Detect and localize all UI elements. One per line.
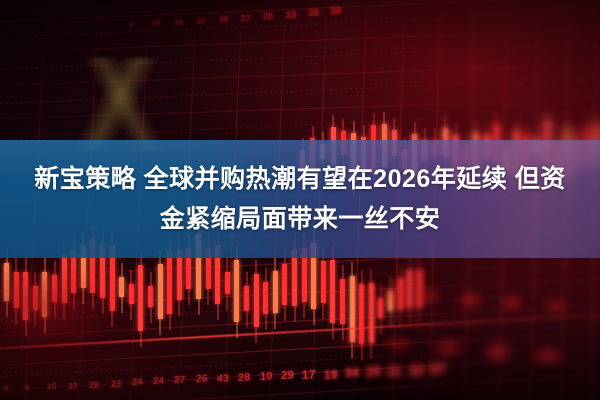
axis-label: 28 — [238, 371, 250, 383]
axis-label: 8 — [25, 383, 30, 392]
axis-label: 39 — [219, 15, 228, 24]
axis-label: 38 — [308, 7, 319, 18]
axis-label: 23 — [111, 378, 121, 388]
axis-label: 28 — [89, 379, 99, 389]
axis-label: 17 — [302, 368, 315, 382]
axis-label: 27 — [197, 16, 206, 25]
axis-label: 38 — [174, 18, 183, 27]
axis-label: 15 — [47, 381, 56, 390]
axis-label: 34 — [345, 366, 359, 381]
news-thumbnail-image: 6183827392728333838 98153728232424272643… — [0, 0, 600, 400]
axis-label: 24 — [132, 377, 143, 387]
axis-label: 18 — [152, 20, 160, 27]
axis-label: 26 — [196, 374, 208, 385]
axis-label: 32 — [409, 363, 424, 379]
axis-label: 29 — [281, 369, 294, 382]
axis-label: 10 — [260, 370, 273, 382]
axis-label: 31 — [387, 364, 402, 380]
headline-line-1: 新宝策略 全球并购热潮有望在2026年延续 但资 — [34, 162, 566, 196]
axis-label: 27 — [241, 13, 251, 23]
axis-label: 6 — [130, 22, 134, 29]
headline-block: 新宝策略 全球并购热潮有望在2026年延续 但资 金紧缩局面带来一丝不安 — [0, 140, 600, 258]
axis-labels-bottom: 9815372823242427264328102917193429313257 — [0, 372, 600, 392]
axis-label: 9 — [4, 384, 8, 393]
axis-label: 28 — [263, 11, 273, 21]
axis-label: 19 — [324, 367, 338, 382]
axis-label: 33 — [286, 9, 297, 19]
axis-label: 43 — [217, 373, 229, 385]
axis-label: 38 — [330, 6, 342, 17]
axis-label: 27 — [174, 375, 185, 386]
axis-label: 57 — [430, 361, 445, 377]
axis-labels-top: 6183827392728333838 — [0, 6, 600, 26]
axis-label: 29 — [366, 365, 380, 380]
axis-label: 37 — [68, 380, 78, 390]
axis-label: 24 — [153, 376, 164, 387]
headline-line-2: 金紧缩局面带来一丝不安 — [160, 202, 441, 236]
